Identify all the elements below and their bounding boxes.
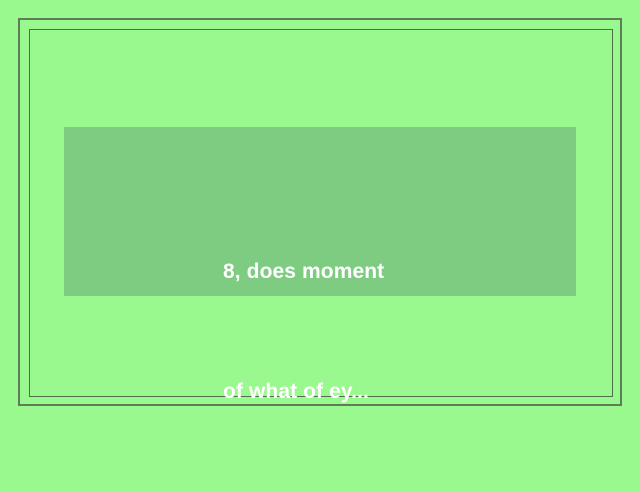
quote-line-1: 8, does moment bbox=[223, 252, 563, 292]
quote-line-2: of what of ey... bbox=[223, 372, 563, 412]
quote-text-block: 8, does moment of what of ey... bbox=[223, 172, 563, 492]
quote-card-canvas: 8, does moment of what of ey... bbox=[0, 0, 640, 425]
quote-panel: 8, does moment of what of ey... bbox=[64, 127, 576, 296]
